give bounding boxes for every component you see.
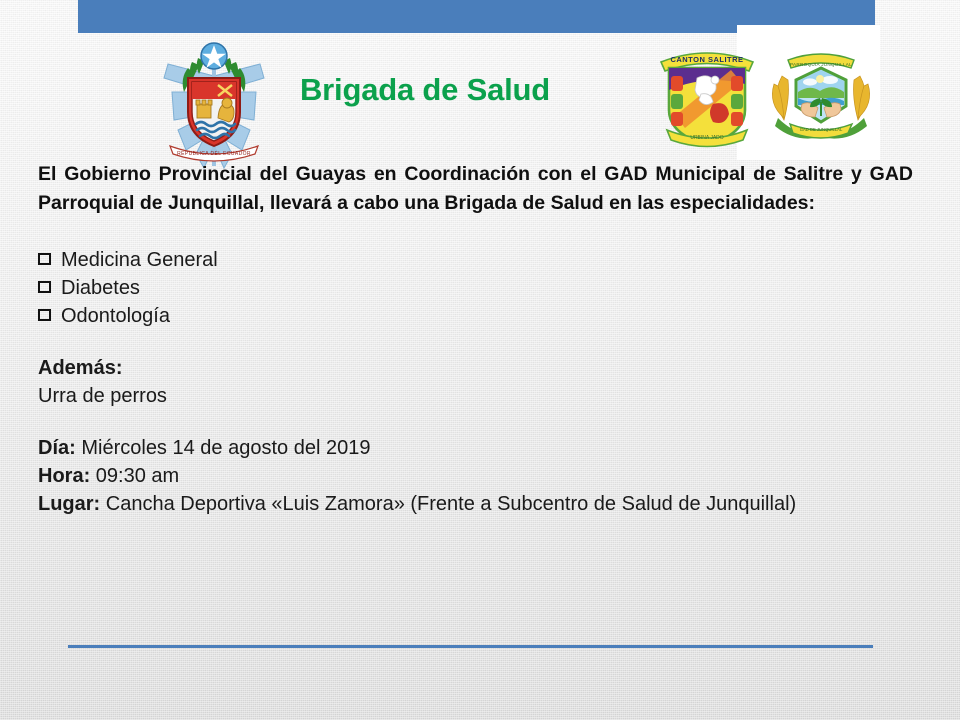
spacer: [38, 410, 918, 434]
svg-text:URBINA JADO: URBINA JADO: [690, 135, 723, 141]
detail-day: Día: Miércoles 14 de agosto del 2019: [38, 434, 918, 462]
checkbox-square-icon: [38, 253, 51, 265]
list-item-label: Odontología: [61, 302, 170, 330]
slide-body: El Gobierno Provincial del Guayas en Coo…: [38, 160, 918, 518]
extra-value: Urra de perros: [38, 382, 918, 410]
detail-time: Hora: 09:30 am: [38, 462, 918, 490]
list-item: Odontología: [38, 302, 918, 330]
list-item: Medicina General: [38, 246, 918, 274]
list-item: Diabetes: [38, 274, 918, 302]
extra-label: Además:: [38, 354, 918, 382]
detail-day-value: Miércoles 14 de agosto del 2019: [76, 437, 371, 459]
svg-text:REPUBLICA DEL ECUADOR: REPUBLICA DEL ECUADOR: [177, 151, 251, 157]
detail-place: Lugar: Cancha Deportiva «Luis Zamora» (F…: [38, 490, 888, 518]
spacer: [38, 218, 918, 246]
detail-time-value: 09:30 am: [90, 465, 179, 487]
checkbox-square-icon: [38, 309, 51, 321]
detail-day-label: Día:: [38, 437, 76, 459]
svg-text:CANTON SALITRE: CANTON SALITRE: [670, 55, 743, 64]
intro-paragraph: El Gobierno Provincial del Guayas en Coo…: [38, 160, 913, 218]
detail-time-value-text: 09:30 am: [96, 465, 179, 487]
svg-text:PARROQUIA JUNQUILLAL: PARROQUIA JUNQUILLAL: [790, 62, 852, 67]
detail-place-value: Cancha Deportiva «Luis Zamora» (Frente a…: [100, 493, 796, 515]
slide-title: Brigada de Salud: [300, 72, 660, 108]
extra-label-text: Además:: [38, 357, 122, 379]
junquillal-coat-of-arms-icon: PARROQUIA JUNQUILLAL: [762, 40, 880, 150]
list-item-label: Diabetes: [61, 274, 140, 302]
spacer: [38, 330, 918, 354]
checkbox-square-icon: [38, 281, 51, 293]
salitre-coat-of-arms-icon: CANTON SALITRE: [655, 38, 759, 153]
slide-canvas: REPUBLICA DEL ECUADOR CANTON SALITRE: [0, 0, 960, 720]
detail-day-value-text: Miércoles 14 de agosto del 2019: [81, 437, 370, 459]
detail-place-label: Lugar:: [38, 493, 100, 515]
detail-time-label: Hora:: [38, 465, 90, 487]
detail-place-value-text: Cancha Deportiva «Luis Zamora» (Frente a…: [106, 493, 796, 515]
guayas-coat-of-arms-icon: REPUBLICA DEL ECUADOR: [152, 34, 276, 170]
list-item-label: Medicina General: [61, 246, 218, 274]
bottom-divider: [68, 645, 873, 648]
logo-plate-top: [737, 25, 880, 34]
svg-text:GAD DE JUNQUILLAL: GAD DE JUNQUILLAL: [800, 127, 843, 132]
specialties-list: Medicina General Diabetes Odontología: [38, 246, 918, 330]
